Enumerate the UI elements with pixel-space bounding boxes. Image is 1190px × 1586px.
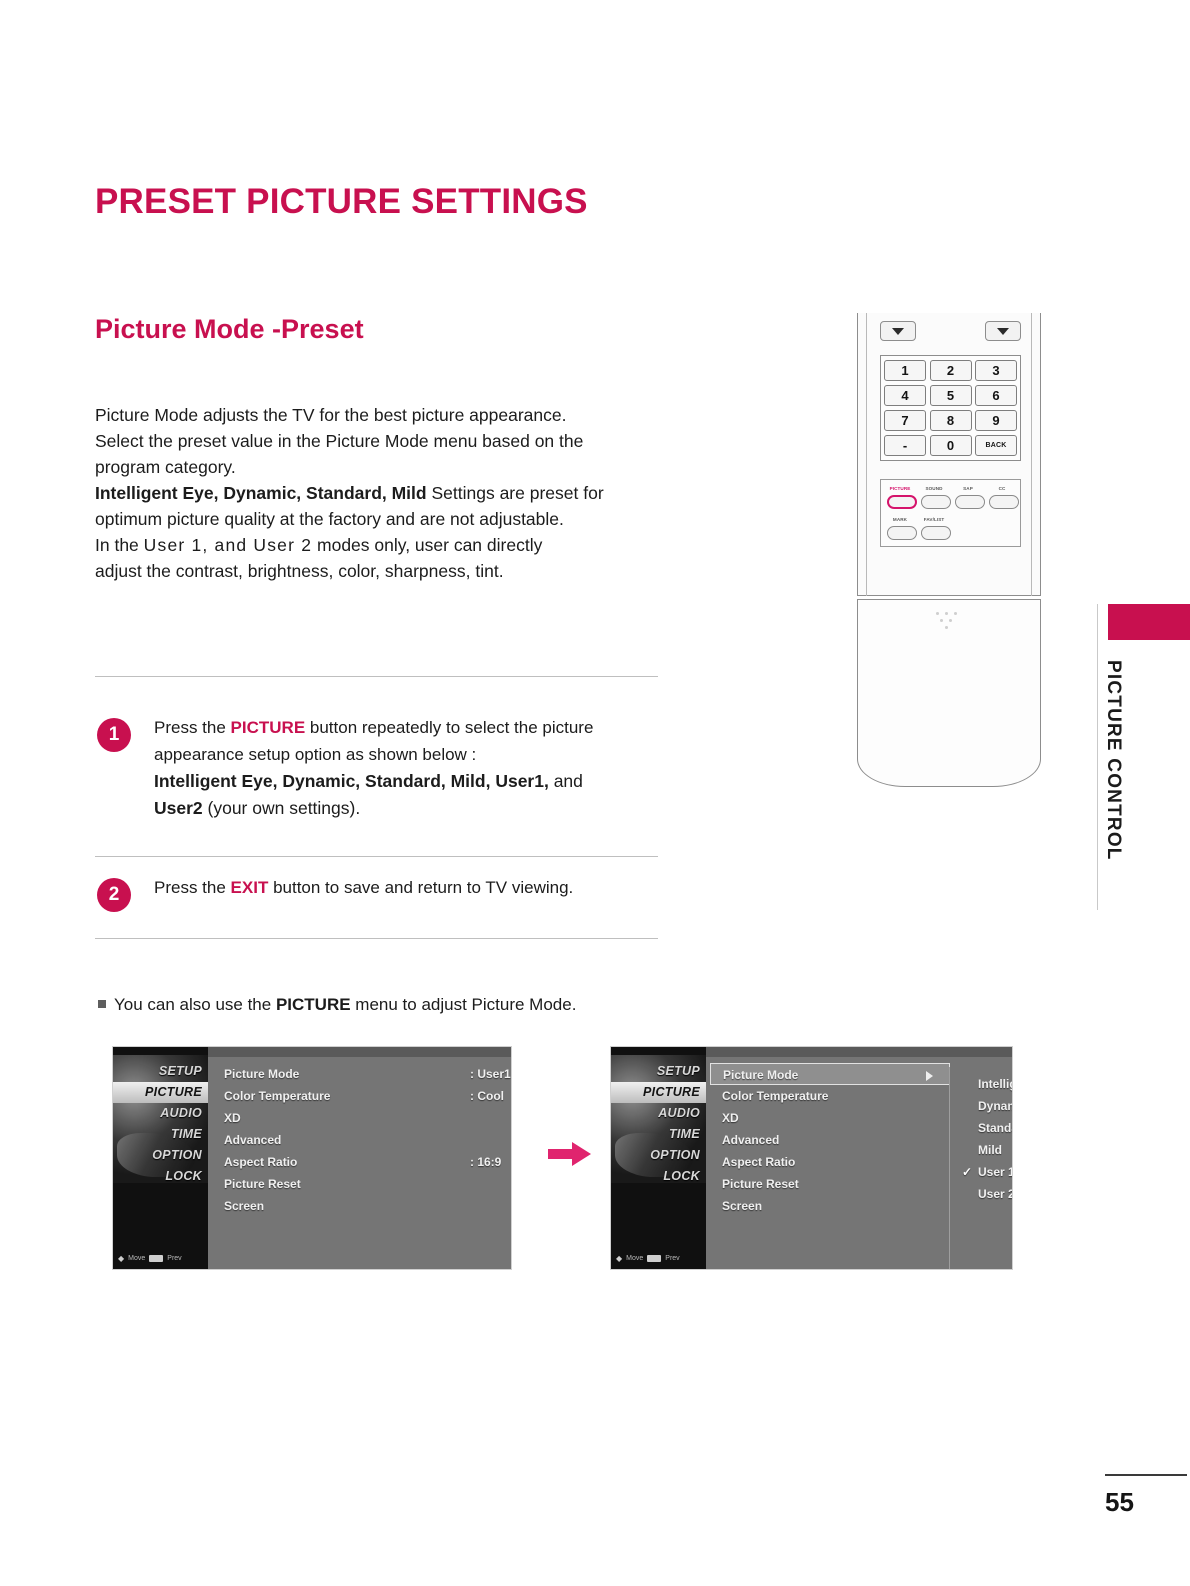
step-2-t1: Press the <box>154 878 231 897</box>
remote-fav-list-button-label: FAV/LIST <box>917 517 951 522</box>
intro-line-4: Intelligent Eye, Dynamic, Standard, Mild… <box>95 480 665 506</box>
submenu-item-user-2[interactable]: User 2 <box>956 1183 1013 1205</box>
prev-key-icon <box>647 1255 661 1262</box>
keypad-key-back[interactable]: BACK <box>975 435 1017 456</box>
osd-label-picture-reset: Picture Reset <box>224 1177 301 1191</box>
keypad-row: 7 8 9 <box>884 410 1017 431</box>
intro-line-6-c: modes only, user can directly <box>312 535 542 555</box>
intro-line-6-a: In the <box>95 535 144 555</box>
step-1-t5-rest: (your own settings). <box>203 798 361 818</box>
move-icon: ◆ <box>616 1254 622 1263</box>
osd-label-xd: XD <box>722 1111 739 1125</box>
check-icon: ✓ <box>962 1161 972 1183</box>
submenu-label-user-1: User 1 <box>978 1165 1013 1179</box>
step-1-t4-rest: and <box>549 771 583 791</box>
remote-control-illustration: 1 2 3 4 5 6 7 8 9 - 0 BACK PICTURE <box>853 313 1045 788</box>
statusbar-prev-label: Prev <box>665 1255 679 1262</box>
step-1-t1: Press the <box>154 718 231 737</box>
statusbar-move-label: Move <box>128 1255 145 1262</box>
osd-label-aspect-ratio: Aspect Ratio <box>224 1155 297 1169</box>
submenu-item-intelligent-eye[interactable]: Intelligent Eye <box>956 1073 1013 1095</box>
sidebar-item-picture[interactable]: PICTURE <box>113 1082 208 1103</box>
intro-line-6: In the User 1, and User 2 modes only, us… <box>95 532 665 558</box>
osd-body: Picture Mode Color Temperature XD Advanc… <box>706 1057 1012 1269</box>
step-1-t4-bold: Intelligent Eye, Dynamic, Standard, Mild… <box>154 771 549 791</box>
osd-row-aspect-ratio[interactable]: Aspect Ratio : 16:9 <box>208 1151 511 1173</box>
sidebar-item-audio[interactable]: AUDIO <box>611 1103 706 1124</box>
submenu-label-standard: Standard <box>978 1121 1013 1135</box>
divider-top <box>95 676 658 677</box>
move-icon: ◆ <box>118 1254 124 1263</box>
remote-cc-button[interactable] <box>989 495 1019 509</box>
keypad-key-8[interactable]: 8 <box>930 410 972 431</box>
sidebar-item-lock[interactable]: LOCK <box>113 1166 208 1187</box>
osd-label-screen: Screen <box>722 1199 762 1213</box>
osd-screenshot-before: SETUP PICTURE AUDIO TIME OPTION LOCK ◆ M… <box>112 1046 512 1270</box>
remote-sap-button-label: SAP <box>951 486 985 491</box>
intro-line-3: program category. <box>95 454 665 480</box>
intro-line-6-b: User 1, and User 2 <box>144 535 312 555</box>
remote-keypad: 1 2 3 4 5 6 7 8 9 - 0 BACK <box>880 355 1021 461</box>
osd-row-list: Picture Mode : User1 Color Temperature :… <box>208 1063 511 1217</box>
statusbar-move-label: Move <box>626 1255 643 1262</box>
remote-mark-button[interactable] <box>887 526 917 540</box>
osd-row-list: Picture Mode Color Temperature XD Advanc… <box>706 1063 954 1217</box>
step-1-line-2: appearance setup option as shown below : <box>154 741 654 768</box>
osd-row-xd[interactable]: XD <box>208 1107 511 1129</box>
osd-statusbar: ◆ Move Prev <box>113 1251 208 1265</box>
flow-arrow-icon <box>548 1141 592 1167</box>
remote-fav-list-button[interactable] <box>921 526 951 540</box>
sidebar-item-setup[interactable]: SETUP <box>113 1061 208 1082</box>
remote-upper-body: 1 2 3 4 5 6 7 8 9 - 0 BACK PICTURE <box>857 313 1041 596</box>
osd-sidebar: SETUP PICTURE AUDIO TIME OPTION LOCK ◆ M… <box>113 1047 208 1269</box>
remote-function-button-area: PICTURE SOUND SAP CC MARK FAV/LIST <box>880 479 1021 547</box>
note-row: You can also use the PICTURE menu to adj… <box>98 995 576 1015</box>
osd-label-picture-reset: Picture Reset <box>722 1177 799 1191</box>
side-tab-bar <box>1108 604 1190 640</box>
note-text-bold: PICTURE <box>276 995 351 1014</box>
sidebar-item-option[interactable]: OPTION <box>611 1145 706 1166</box>
step-1-accent: PICTURE <box>231 718 306 737</box>
step-1-line-4: User2 (your own settings). <box>154 795 654 822</box>
intro-paragraph: Picture Mode adjusts the TV for the best… <box>95 402 665 584</box>
intro-line-2: Select the preset value in the Picture M… <box>95 428 665 454</box>
step-1-t2: button repeatedly to select the picture <box>305 718 593 737</box>
osd-label-xd: XD <box>224 1111 241 1125</box>
keypad-row: - 0 BACK <box>884 435 1017 456</box>
remote-lower-body <box>857 599 1041 787</box>
intro-line-4-bold: Intelligent Eye, Dynamic, Standard, Mild <box>95 483 427 503</box>
page-title: PRESET PICTURE SETTINGS <box>95 182 588 222</box>
prev-key-icon <box>149 1255 163 1262</box>
osd-submenu-divider <box>949 1067 950 1269</box>
divider-bottom <box>95 938 658 939</box>
osd-picture-mode-submenu: Intelligent Eye Dynamic Standard Mild ✓ … <box>956 1073 1013 1205</box>
chevron-down-icon <box>997 328 1009 335</box>
osd-row-color-temperature[interactable]: Color Temperature <box>706 1085 954 1107</box>
chevron-down-icon <box>892 328 904 335</box>
submenu-item-user-1[interactable]: ✓ User 1 <box>956 1161 1013 1183</box>
submenu-item-standard[interactable]: Standard <box>956 1117 1013 1139</box>
remote-mark-button-label: MARK <box>883 517 917 522</box>
osd-label-screen: Screen <box>224 1199 264 1213</box>
remote-speaker-dots-icon <box>936 612 966 634</box>
keypad-key-3[interactable]: 3 <box>975 360 1017 381</box>
osd-sidebar-menu: SETUP PICTURE AUDIO TIME OPTION LOCK <box>611 1061 706 1187</box>
sidebar-item-lock[interactable]: LOCK <box>611 1166 706 1187</box>
osd-label-color-temperature: Color Temperature <box>224 1089 330 1103</box>
step-1-badge: 1 <box>97 718 131 752</box>
sidebar-item-setup[interactable]: SETUP <box>611 1061 706 1082</box>
chevron-right-icon <box>926 1071 933 1081</box>
remote-picture-button-label: PICTURE <box>883 486 917 491</box>
submenu-label-user-2: User 2 <box>978 1187 1013 1201</box>
intro-line-5: optimum picture quality at the factory a… <box>95 506 665 532</box>
keypad-key-7[interactable]: 7 <box>884 410 926 431</box>
sidebar-item-audio[interactable]: AUDIO <box>113 1103 208 1124</box>
osd-label-color-temperature: Color Temperature <box>722 1089 828 1103</box>
keypad-key-1[interactable]: 1 <box>884 360 926 381</box>
sidebar-item-time[interactable]: TIME <box>113 1124 208 1145</box>
keypad-key-4[interactable]: 4 <box>884 385 926 406</box>
keypad-key-5[interactable]: 5 <box>930 385 972 406</box>
remote-arrow-down-right-button[interactable] <box>985 321 1021 341</box>
osd-row-picture-mode[interactable]: Picture Mode <box>710 1063 950 1085</box>
osd-label-aspect-ratio: Aspect Ratio <box>722 1155 795 1169</box>
osd-label-advanced: Advanced <box>224 1133 281 1147</box>
note-bullet-icon <box>98 1000 106 1008</box>
osd-row-screen[interactable]: Screen <box>706 1195 954 1217</box>
submenu-item-dynamic[interactable]: Dynamic <box>956 1095 1013 1117</box>
osd-row-picture-mode[interactable]: Picture Mode : User1 <box>208 1063 511 1085</box>
footer-rule <box>1105 1474 1187 1476</box>
step-2-accent: EXIT <box>231 878 269 897</box>
page-number: 55 <box>1105 1487 1187 1518</box>
step-2-line-1: Press the EXIT button to save and return… <box>154 874 654 901</box>
osd-label-picture-mode: Picture Mode <box>224 1067 299 1081</box>
step-2-badge: 2 <box>97 878 131 912</box>
step-1-t5-bold: User2 <box>154 798 203 818</box>
sidebar-item-picture[interactable]: PICTURE <box>611 1082 706 1103</box>
divider-middle <box>95 856 658 857</box>
sidebar-item-time[interactable]: TIME <box>611 1124 706 1145</box>
intro-line-4-rest: Settings are preset for <box>427 483 604 503</box>
osd-row-color-temperature[interactable]: Color Temperature : Cool <box>208 1085 511 1107</box>
step-1-line-3: Intelligent Eye, Dynamic, Standard, Mild… <box>154 768 654 795</box>
intro-line-7: adjust the contrast, brightness, color, … <box>95 558 665 584</box>
remote-sound-button[interactable] <box>921 495 951 509</box>
keypad-key-2[interactable]: 2 <box>930 360 972 381</box>
sidebar-item-option[interactable]: OPTION <box>113 1145 208 1166</box>
remote-cc-button-label: CC <box>985 486 1019 491</box>
submenu-label-mild: Mild <box>978 1143 1002 1157</box>
keypad-key-9[interactable]: 9 <box>975 410 1017 431</box>
osd-row-picture-reset[interactable]: Picture Reset <box>706 1173 954 1195</box>
side-tab-rule <box>1097 604 1098 910</box>
osd-value-color-temperature: : Cool <box>470 1085 504 1107</box>
osd-value-picture-mode: : User1 <box>470 1063 511 1085</box>
osd-sidebar: SETUP PICTURE AUDIO TIME OPTION LOCK ◆ M… <box>611 1047 706 1269</box>
step-1-line-1: Press the PICTURE button repeatedly to s… <box>154 714 654 741</box>
osd-row-picture-reset[interactable]: Picture Reset <box>208 1173 511 1195</box>
submenu-label-dynamic: Dynamic <box>978 1099 1013 1113</box>
step-2-text: Press the EXIT button to save and return… <box>154 874 654 901</box>
osd-body: Picture Mode : User1 Color Temperature :… <box>208 1057 511 1269</box>
osd-row-aspect-ratio[interactable]: Aspect Ratio <box>706 1151 954 1173</box>
osd-label-advanced: Advanced <box>722 1133 779 1147</box>
osd-value-aspect-ratio: : 16:9 <box>470 1151 501 1173</box>
remote-sap-button[interactable] <box>955 495 985 509</box>
keypad-key-0[interactable]: 0 <box>930 435 972 456</box>
note-text-a: You can also use the <box>114 995 276 1014</box>
osd-row-xd[interactable]: XD <box>706 1107 954 1129</box>
note-text-b: menu to adjust Picture Mode. <box>351 995 577 1014</box>
remote-arrow-down-left-button[interactable] <box>880 321 916 341</box>
remote-picture-button[interactable] <box>887 495 917 509</box>
keypad-row: 1 2 3 <box>884 360 1017 381</box>
step-2-t2: button to save and return to TV viewing. <box>268 878 573 897</box>
osd-row-advanced[interactable]: Advanced <box>208 1129 511 1151</box>
keypad-row: 4 5 6 <box>884 385 1017 406</box>
statusbar-prev-label: Prev <box>167 1255 181 1262</box>
remote-sound-button-label: SOUND <box>917 486 951 491</box>
side-tab-label: PICTURE CONTROL <box>1102 660 1124 880</box>
step-1-text: Press the PICTURE button repeatedly to s… <box>154 714 654 822</box>
keypad-key-6[interactable]: 6 <box>975 385 1017 406</box>
keypad-key-dash[interactable]: - <box>884 435 926 456</box>
osd-row-screen[interactable]: Screen <box>208 1195 511 1217</box>
submenu-item-mild[interactable]: Mild <box>956 1139 1013 1161</box>
osd-label-picture-mode: Picture Mode <box>723 1068 798 1082</box>
osd-screenshot-after: SETUP PICTURE AUDIO TIME OPTION LOCK ◆ M… <box>610 1046 1013 1270</box>
submenu-label-intelligent-eye: Intelligent Eye <box>978 1077 1013 1091</box>
osd-row-advanced[interactable]: Advanced <box>706 1129 954 1151</box>
osd-sidebar-menu: SETUP PICTURE AUDIO TIME OPTION LOCK <box>113 1061 208 1187</box>
intro-line-1: Picture Mode adjusts the TV for the best… <box>95 402 665 428</box>
section-heading: Picture Mode -Preset <box>95 314 364 345</box>
osd-statusbar: ◆ Move Prev <box>611 1251 706 1265</box>
